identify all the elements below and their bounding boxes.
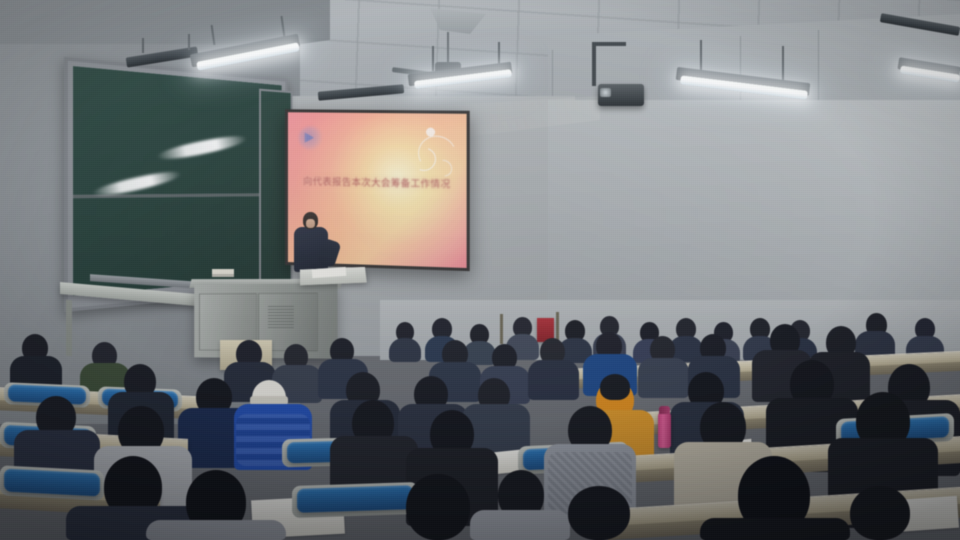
light-hanger — [188, 34, 190, 50]
student-head — [850, 486, 910, 540]
student-torso — [389, 338, 421, 362]
water-bottle-cap — [659, 406, 670, 414]
light-hanger — [782, 46, 784, 80]
seat-back[interactable] — [297, 485, 413, 513]
projector-lens-icon — [600, 88, 611, 97]
student-head — [568, 486, 630, 540]
student-hair — [600, 374, 630, 400]
front-table-leg — [66, 300, 72, 357]
light-hanger — [142, 38, 144, 53]
student-torso — [470, 510, 570, 540]
console-vent-grille — [268, 306, 294, 328]
side-table-leg-left — [500, 314, 503, 344]
blackboard-surface — [73, 66, 282, 296]
light-hanger — [432, 46, 434, 71]
side-table-leg-right — [556, 312, 559, 342]
speaker-face — [306, 219, 315, 228]
projector-mount-bracket — [592, 42, 626, 46]
student-torso — [638, 358, 689, 398]
lecture-hall-photo: 向代表报告本次大会筹备工作情况 — [0, 0, 960, 540]
projector-mount-arm — [592, 42, 596, 86]
pink-water-bottle — [658, 412, 671, 448]
chalk-box — [212, 269, 234, 277]
student-torso — [528, 360, 579, 400]
student-torso-foreground — [146, 520, 286, 540]
student-torso-foreground — [700, 518, 850, 540]
student-head-foreground — [406, 474, 470, 540]
